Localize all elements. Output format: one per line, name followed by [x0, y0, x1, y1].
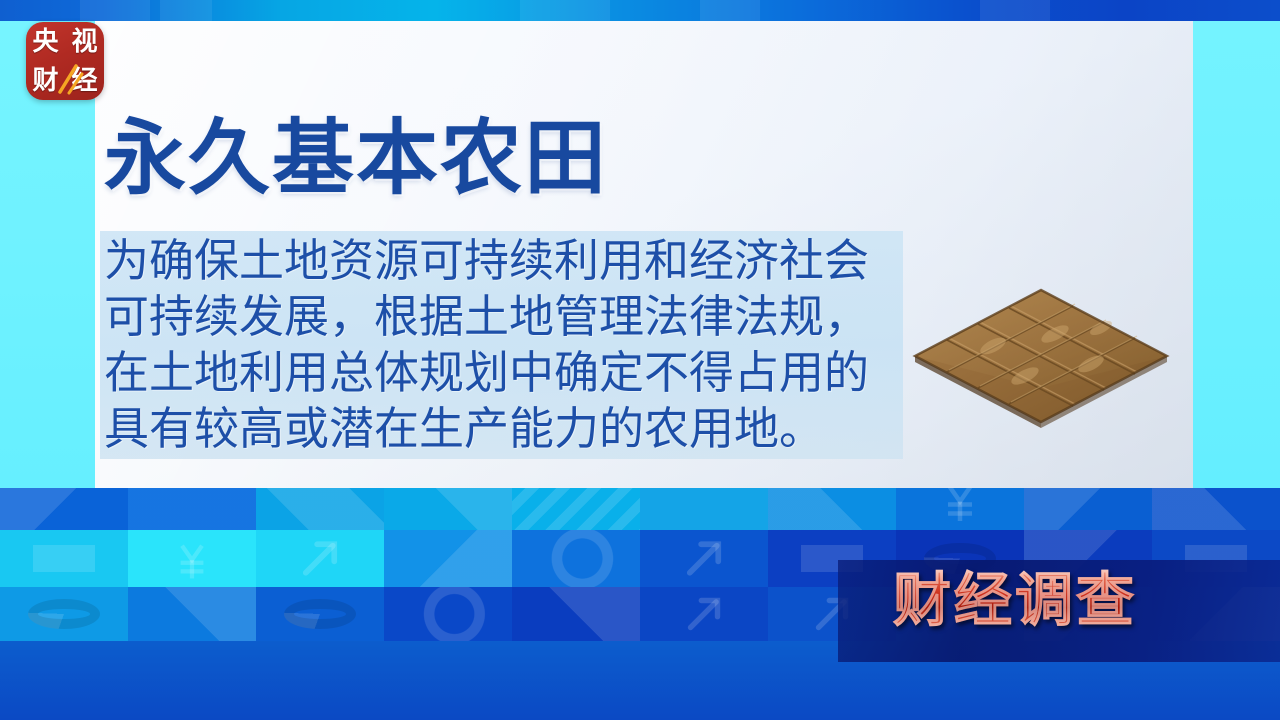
definition-line: 为确保土地资源可持续利用和经济社会 [104, 233, 904, 289]
pattern-tile [0, 587, 128, 641]
pattern-arrow-icon [640, 587, 768, 641]
farmland-icon [905, 272, 1177, 432]
pattern-tri-lr-icon [384, 530, 512, 587]
broadcast-frame: 永久基本农田 为确保土地资源可持续利用和经济社会 可持续发展，根据土地管理法律法… [0, 0, 1280, 720]
farmland-plot-illustration [905, 272, 1177, 432]
definition-line: 具有较高或潜在生产能力的农用地。 [104, 401, 904, 457]
logo-char-cai: 财 [32, 68, 58, 94]
definition-text: 为确保土地资源可持续利用和经济社会 可持续发展，根据土地管理法律法规， 在土地利… [104, 233, 904, 457]
pattern-tri-ur-icon [512, 587, 640, 641]
cctv-finance-logo: 央 视 财 经 [26, 22, 104, 100]
pattern-tile [384, 530, 512, 587]
pattern-ring-icon [384, 587, 512, 641]
pattern-tri-ur-icon [128, 587, 256, 641]
logo-characters: 央 视 财 经 [26, 22, 104, 100]
pattern-arrow-icon [640, 530, 768, 587]
program-badge-title: 财经调查 [893, 568, 1137, 632]
pattern-tile [128, 587, 256, 641]
definition-line: 在土地利用总体规划中确定不得占用的 [104, 345, 904, 401]
pattern-tile [512, 530, 640, 587]
page-title: 永久基本农田 [104, 118, 608, 200]
logo-char-shi: 视 [71, 29, 97, 55]
pattern-yen-icon [128, 530, 256, 587]
pattern-arrow-icon [256, 530, 384, 587]
pattern-tile [640, 530, 768, 587]
pattern-square-icon [33, 545, 94, 572]
pattern-tile [256, 587, 384, 641]
pattern-pie-icon [284, 599, 356, 629]
pattern-tile [384, 587, 512, 641]
top-accent-bar [0, 0, 1280, 21]
logo-char-yang: 央 [32, 29, 58, 55]
pattern-tile [512, 587, 640, 641]
pattern-tile [0, 530, 128, 587]
cyan-right-band [1193, 21, 1280, 488]
pattern-ring-icon [512, 530, 640, 587]
logo-char-jing: 经 [71, 68, 97, 94]
pattern-tile [640, 587, 768, 641]
pattern-tile [256, 530, 384, 587]
definition-line: 可持续发展，根据土地管理法律法规， [104, 289, 904, 345]
pattern-tile [128, 530, 256, 587]
pattern-pie-icon [28, 599, 100, 629]
